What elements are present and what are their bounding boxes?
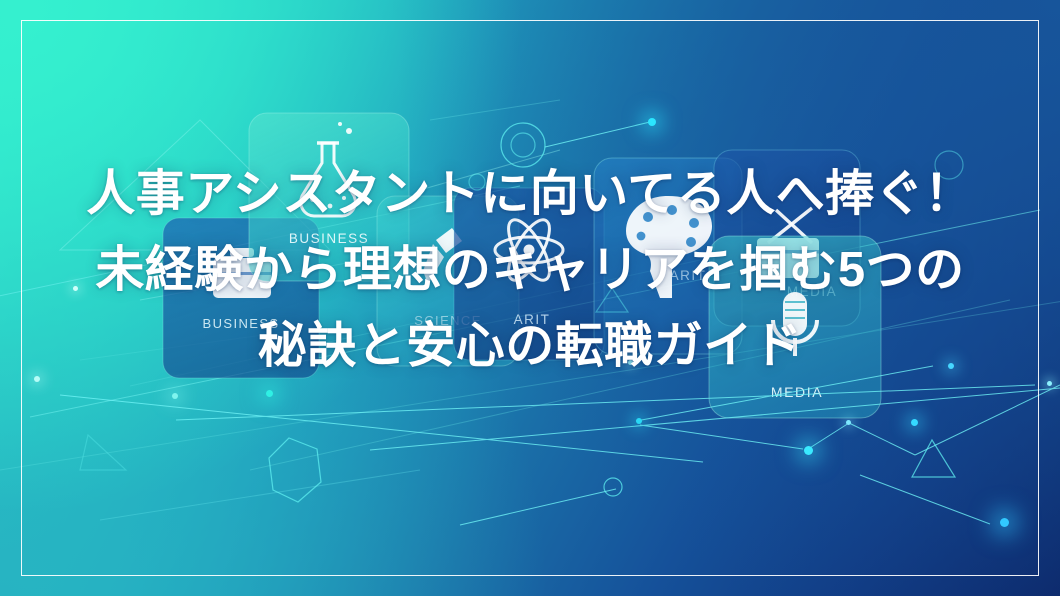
title-line-2: 未経験から理想のキャリアを掴む5つの (34, 232, 1026, 308)
glow-dot (172, 393, 178, 399)
circle-outline-small (511, 133, 535, 157)
glow-dot (1000, 518, 1009, 527)
glow-dot (636, 418, 642, 424)
title-block: 人事アシスタントに向いてる人へ捧ぐ！ 未経験から理想のキャリアを掴む5つの 秘訣… (0, 156, 1060, 384)
glow-dot (648, 118, 656, 126)
glow-dot (846, 420, 851, 425)
title-line-1: 人事アシスタントに向いてる人へ捧ぐ！ (34, 156, 1026, 232)
glow-dot (266, 390, 273, 397)
banner-root: BUSINESS BUSINESS SCIENCE (0, 0, 1060, 596)
circle-outline-small (604, 478, 622, 496)
glow-dot (911, 419, 918, 426)
glow-dot (804, 446, 813, 455)
title-line-3: 秘訣と安心の転職ガイド (34, 308, 1026, 384)
